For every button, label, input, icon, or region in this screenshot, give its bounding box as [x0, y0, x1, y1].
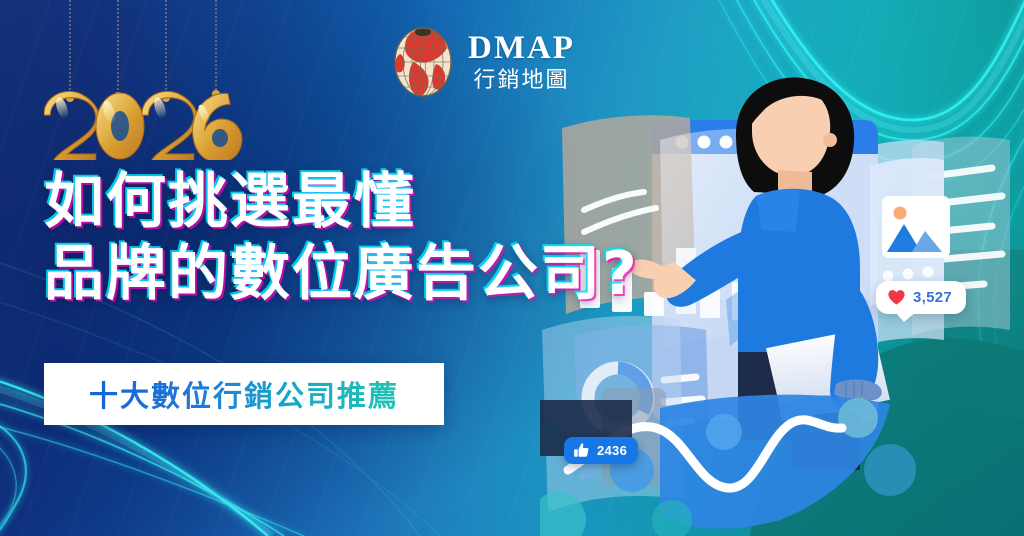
like-count: 2436	[597, 443, 627, 458]
thumbs-up-icon	[573, 442, 590, 459]
promo-banner: DMAP 行銷地圖 如何挑選最懂 品牌的數位廣告公司? 十大數位行銷公司推薦 2…	[0, 0, 1024, 536]
headline: 如何挑選最懂 品牌的數位廣告公司?	[44, 166, 639, 310]
like-badge[interactable]: 2436	[564, 437, 638, 464]
logo-subtitle: 行銷地圖	[473, 69, 569, 93]
globe-icon	[392, 26, 454, 98]
headline-line-2: 品牌的數位廣告公司?	[44, 238, 639, 310]
heart-badge[interactable]: 3,527	[876, 281, 966, 314]
heart-count: 3,527	[913, 289, 952, 306]
subtitle-badge-label: 十大數位行銷公司推薦	[89, 373, 399, 415]
headline-line-1: 如何挑選最懂	[44, 166, 639, 238]
logo-name: DMAP	[468, 31, 575, 66]
subtitle-badge: 十大數位行銷公司推薦	[44, 363, 444, 425]
heart-icon	[887, 288, 906, 307]
dmap-logo[interactable]: DMAP 行銷地圖	[392, 26, 575, 98]
year-balloons-2026	[44, 0, 254, 160]
